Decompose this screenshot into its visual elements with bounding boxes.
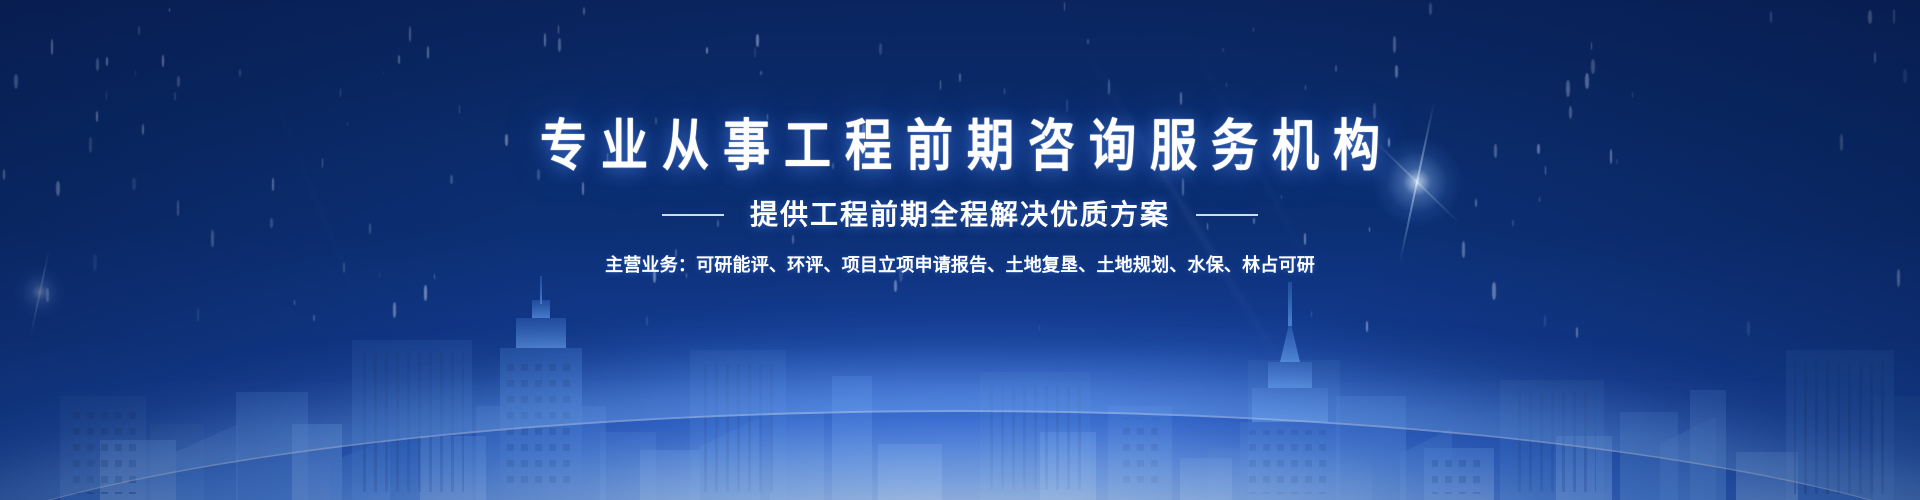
banner-subtitle-row: 提供工程前期全程解决优质方案 [0, 201, 1920, 229]
banner-headline: 专业从事工程前期咨询服务机构 [0, 118, 1920, 173]
divider-dash-left-icon [662, 214, 724, 216]
divider-dash-right-icon [1196, 214, 1258, 216]
banner-content: 专业从事工程前期咨询服务机构 提供工程前期全程解决优质方案 主营业务：可研能评、… [0, 118, 1920, 274]
hero-banner: 专业从事工程前期咨询服务机构 提供工程前期全程解决优质方案 主营业务：可研能评、… [0, 0, 1920, 500]
banner-services-line: 主营业务：可研能评、环评、项目立项申请报告、土地复垦、土地规划、水保、林占可研 [0, 256, 1920, 274]
banner-subtitle: 提供工程前期全程解决优质方案 [750, 201, 1170, 229]
